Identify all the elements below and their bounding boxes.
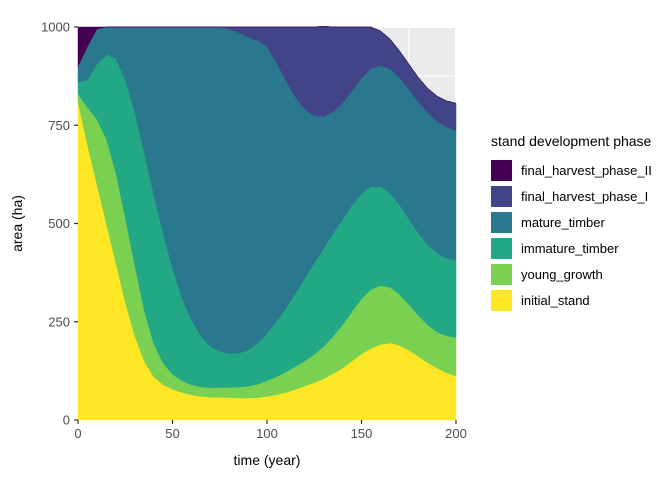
legend-label-mature_timber: mature_timber [521, 215, 605, 230]
stacked-area-chart: 02505007501000050100150200time (year)are… [0, 0, 672, 480]
x-tick-label: 0 [74, 426, 81, 441]
legend-title: stand development phase [491, 133, 652, 149]
y-tick-label: 250 [48, 314, 70, 329]
legend-label-initial_stand: initial_stand [521, 293, 590, 308]
chart-container: 02505007501000050100150200time (year)are… [0, 0, 672, 480]
y-tick-label: 1000 [41, 20, 70, 35]
legend-label-immature_timber: immature_timber [521, 241, 619, 256]
legend-swatch-final_harvest_phase_I[interactable] [491, 186, 512, 207]
x-tick-label: 150 [351, 426, 373, 441]
legend-swatch-immature_timber[interactable] [491, 238, 512, 259]
legend: stand development phasefinal_harvest_pha… [491, 133, 652, 311]
legend-swatch-initial_stand[interactable] [491, 290, 512, 311]
x-tick-label: 100 [256, 426, 278, 441]
legend-swatch-final_harvest_phase_II[interactable] [491, 160, 512, 181]
y-tick-label: 750 [48, 118, 70, 133]
x-tick-label: 200 [445, 426, 467, 441]
legend-label-final_harvest_phase_II: final_harvest_phase_II [521, 163, 652, 178]
x-tick-label: 50 [165, 426, 179, 441]
legend-swatch-young_growth[interactable] [491, 264, 512, 285]
y-tick-label: 0 [63, 413, 70, 428]
x-axis-title: time (year) [234, 452, 301, 468]
y-axis-title: area (ha) [9, 195, 25, 252]
y-tick-label: 500 [48, 216, 70, 231]
legend-label-young_growth: young_growth [521, 267, 603, 282]
legend-swatch-mature_timber[interactable] [491, 212, 512, 233]
area-series-group [78, 26, 456, 420]
legend-label-final_harvest_phase_I: final_harvest_phase_I [521, 189, 648, 204]
